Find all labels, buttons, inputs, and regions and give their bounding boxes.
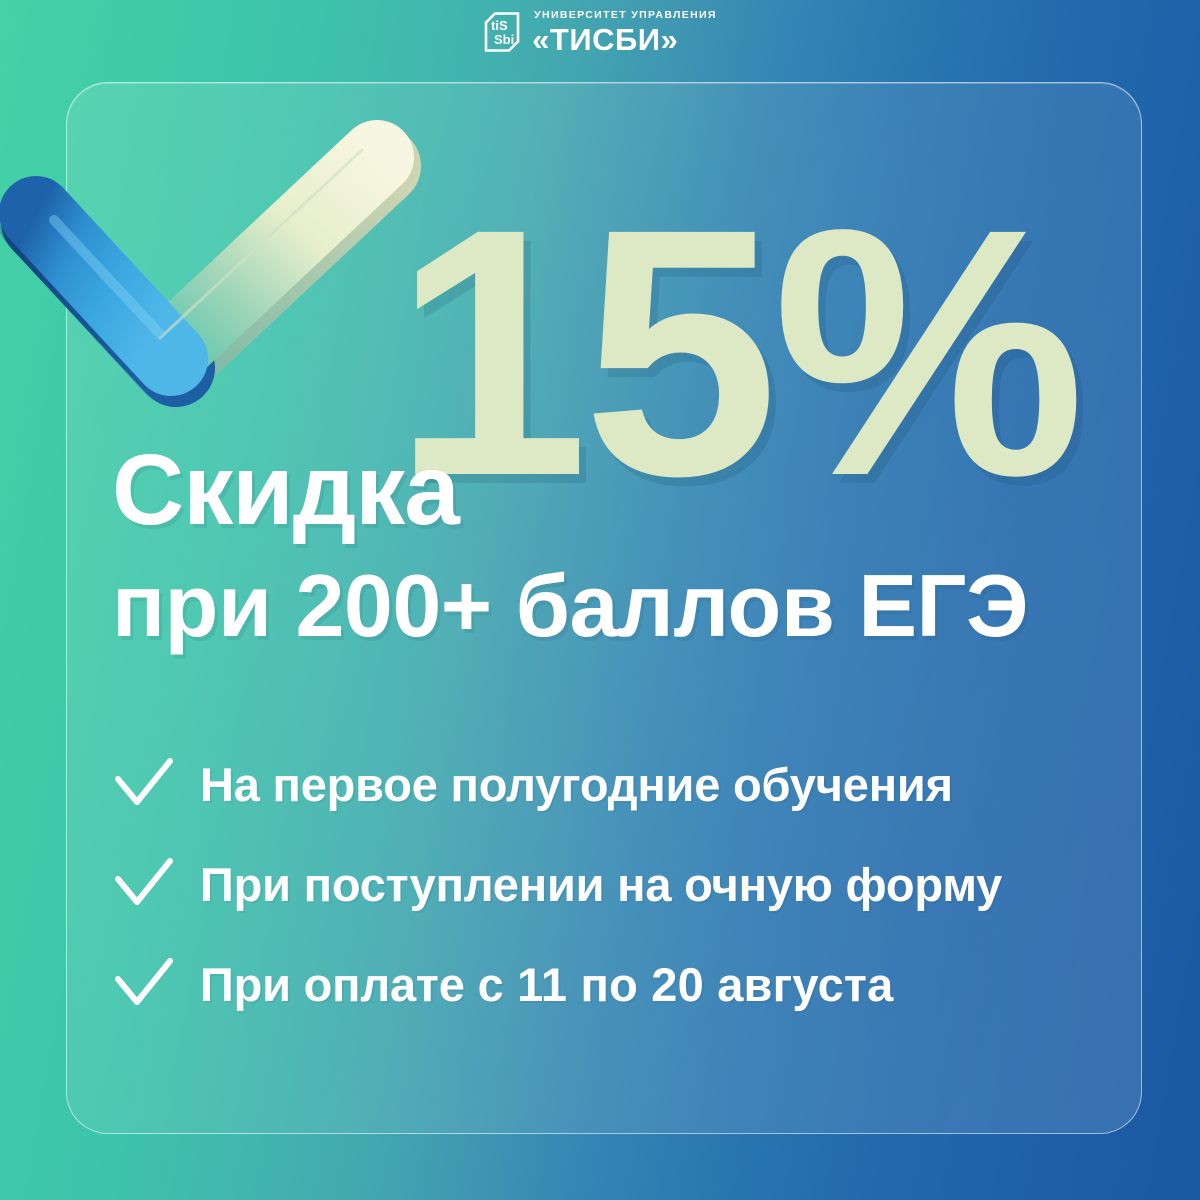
- benefit-label-1: На первое полугодние обучения: [200, 760, 953, 809]
- brand-supertitle: УНИВЕРСИТЕТ УПРАВЛЕНИЯ: [534, 10, 717, 21]
- svg-text:Sbi: Sbi: [494, 32, 514, 47]
- benefit-label-3-emphasis: с 11 по 20 августа: [478, 958, 894, 1011]
- benefit-label-3: При оплате с 11 по 20 августа: [200, 960, 893, 1009]
- benefits-list: На первое полугодние обучения При поступ…: [112, 735, 1112, 1035]
- svg-text:tiS: tiS: [491, 18, 508, 33]
- benefit-label-3-lead: При оплате: [200, 958, 478, 1011]
- checkmark-3d-icon: [10, 70, 440, 400]
- list-item: При поступлении на очную форму: [112, 835, 1112, 935]
- brand-lockup: tiS Sbi УНИВЕРСИТЕТ УПРАВЛЕНИЯ «ТИСБИ»: [0, 10, 1200, 55]
- tisbi-hexagon-logo-icon: tiS Sbi: [483, 11, 521, 53]
- brand-name: «ТИСБИ»: [532, 24, 717, 55]
- promo-poster: tiS Sbi УНИВЕРСИТЕТ УПРАВЛЕНИЯ «ТИСБИ»: [0, 0, 1200, 1200]
- check-icon: [112, 957, 174, 1013]
- list-item: На первое полугодние обучения: [112, 735, 1112, 835]
- check-icon: [112, 757, 174, 813]
- benefit-label-2: При поступлении на очную форму: [200, 860, 1002, 909]
- brand-wordmark: УНИВЕРСИТЕТ УПРАВЛЕНИЯ «ТИСБИ»: [532, 10, 717, 55]
- check-icon: [112, 857, 174, 913]
- list-item: При оплате с 11 по 20 августа: [112, 935, 1112, 1035]
